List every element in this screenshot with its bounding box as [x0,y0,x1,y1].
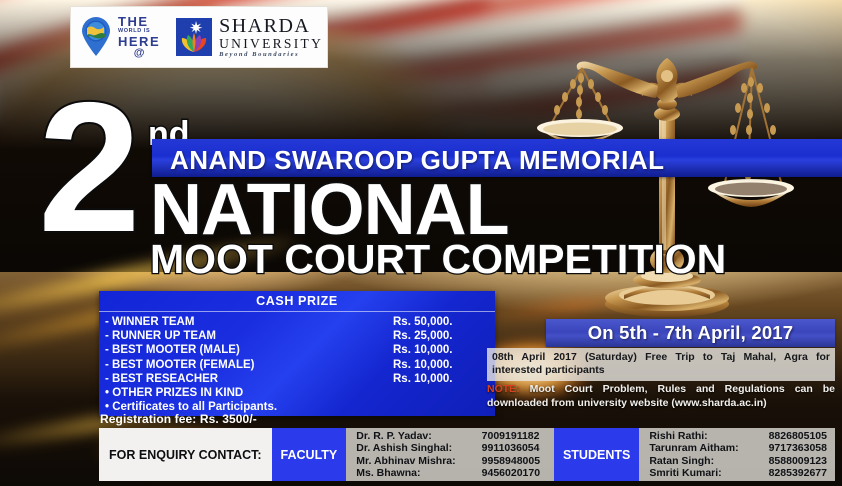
contact-row: Ms. Bhawna: 9456020170 [356,467,540,479]
sharda-university-logo: SHARDA UNIVERSITY Beyond Boundaries [176,16,323,59]
contact-phone: 8588009123 [739,455,827,467]
prize-amount: Rs. 50,000. [393,315,485,329]
prize-row: - BEST MOOTER (FEMALE) Rs. 10,000. [105,358,485,372]
world-is-here-text: THE WORLD IS HERE @ [118,15,160,60]
faculty-contact-list: Dr. R. P. Yadav: 7009191182 Dr. Ashish S… [346,428,548,481]
prize-row: - WINNER TEAM Rs. 50,000. [105,315,485,329]
contact-row: Smriti Kumari: 8285392677 [649,467,827,479]
contact-phone: 9456020170 [456,467,540,479]
prize-label: - WINNER TEAM [105,315,393,329]
event-date-banner: On 5th - 7th April, 2017 [546,319,835,347]
contact-phone: 7009191182 [456,430,540,442]
note-keyword: NOTE: [487,383,520,395]
poster-canvas: THE WORLD IS HERE @ [0,0,842,486]
faculty-tag: FACULTY [272,428,347,481]
prize-amount: Rs. 10,000. [393,343,485,357]
contact-name: Rishi Rathi: [649,430,738,442]
prize-label: - RUNNER UP TEAM [105,329,393,343]
prize-amount: Rs. 25,000. [393,329,485,343]
globe-pin-icon [79,17,113,57]
sharda-wordmark: SHARDA UNIVERSITY Beyond Boundaries [219,16,323,59]
contact-phone: 8826805105 [739,430,827,442]
prize-bullet: • OTHER PRIZES IN KIND [105,386,485,400]
prize-label: - BEST MOOTER (FEMALE) [105,358,393,372]
prize-row: - RUNNER UP TEAM Rs. 25,000. [105,329,485,343]
cash-prize-rows: - WINNER TEAM Rs. 50,000. - RUNNER UP TE… [99,312,495,416]
sharda-name-line2: UNIVERSITY [219,37,323,51]
contact-name: Dr. R. P. Yadav: [356,430,455,442]
sharda-name-line1: SHARDA [219,16,323,36]
contact-phone: 8285392677 [739,467,827,479]
students-contact-list: Rishi Rathi: 8826805105 Tarunram Aitham:… [639,428,835,481]
prize-label: - BEST MOOTER (MALE) [105,343,393,357]
contact-phone: 9911036054 [456,442,540,454]
contact-row: Mr. Abhinav Mishra: 9958948005 [356,455,540,467]
contact-name: Ratan Singh: [649,455,738,467]
contact-row: Dr. R. P. Yadav: 7009191182 [356,430,540,442]
logo-bar: THE WORLD IS HERE @ [70,6,328,68]
contact-bar-label: FOR ENQUIRY CONTACT: [99,428,272,481]
contact-phone: 9717363058 [739,442,827,454]
contact-bar: FOR ENQUIRY CONTACT: FACULTY Dr. R. P. Y… [99,428,835,481]
contact-name: Mr. Abhinav Mishra: [356,455,455,467]
contact-row: Rishi Rathi: 8826805105 [649,430,827,442]
cash-prize-heading: CASH PRIZE [99,291,495,312]
contact-name: Smriti Kumari: [649,467,738,479]
cash-prize-panel: CASH PRIZE - WINNER TEAM Rs. 50,000. - R… [99,291,495,416]
prize-amount: Rs. 10,000. [387,372,485,386]
download-note-paragraph: NOTE: Moot Court Problem, Rules and Regu… [487,383,835,410]
trip-note-text: 08th April 2017 (Saturday) Free Trip to … [492,351,830,377]
download-note: NOTE: Moot Court Problem, Rules and Regu… [487,383,835,410]
prize-amount: Rs. 10,000. [393,358,485,372]
prize-row: - BEST MOOTER (MALE) Rs. 10,000. [105,343,485,357]
students-tag: STUDENTS [554,428,639,481]
sharda-tagline: Beyond Boundaries [219,52,323,59]
contact-phone: 9958948005 [456,455,540,467]
note-body: Moot Court Problem, Rules and Regulation… [487,383,835,409]
prize-label: - BEST RESEACHER [105,372,387,386]
contact-name: Ms. Bhawna: [356,467,455,479]
contact-row: Ratan Singh: 8588009123 [649,455,827,467]
edition-number: 2 [38,96,141,240]
prize-row: - BEST RESEACHER Rs. 10,000. [105,372,485,386]
contact-row: Tarunram Aitham: 9717363058 [649,442,827,454]
contact-name: Tarunram Aitham: [649,442,738,454]
world-is-here-logo: THE WORLD IS HERE @ [79,15,160,60]
registration-fee: Registration fee: Rs. 3500/- [100,412,257,426]
contact-row: Dr. Ashish Singhal: 9911036054 [356,442,540,454]
world-logo-at-symbol: @ [118,48,160,59]
contact-name: Dr. Ashish Singhal: [356,442,455,454]
world-logo-line1: THE [118,15,160,28]
taj-mahal-trip-note: 08th April 2017 (Saturday) Free Trip to … [487,348,835,381]
sharda-lotus-icon [176,18,212,56]
title-moot-court-competition: MOOT COURT COMPETITION [150,239,726,280]
event-date-text: On 5th - 7th April, 2017 [546,319,835,347]
